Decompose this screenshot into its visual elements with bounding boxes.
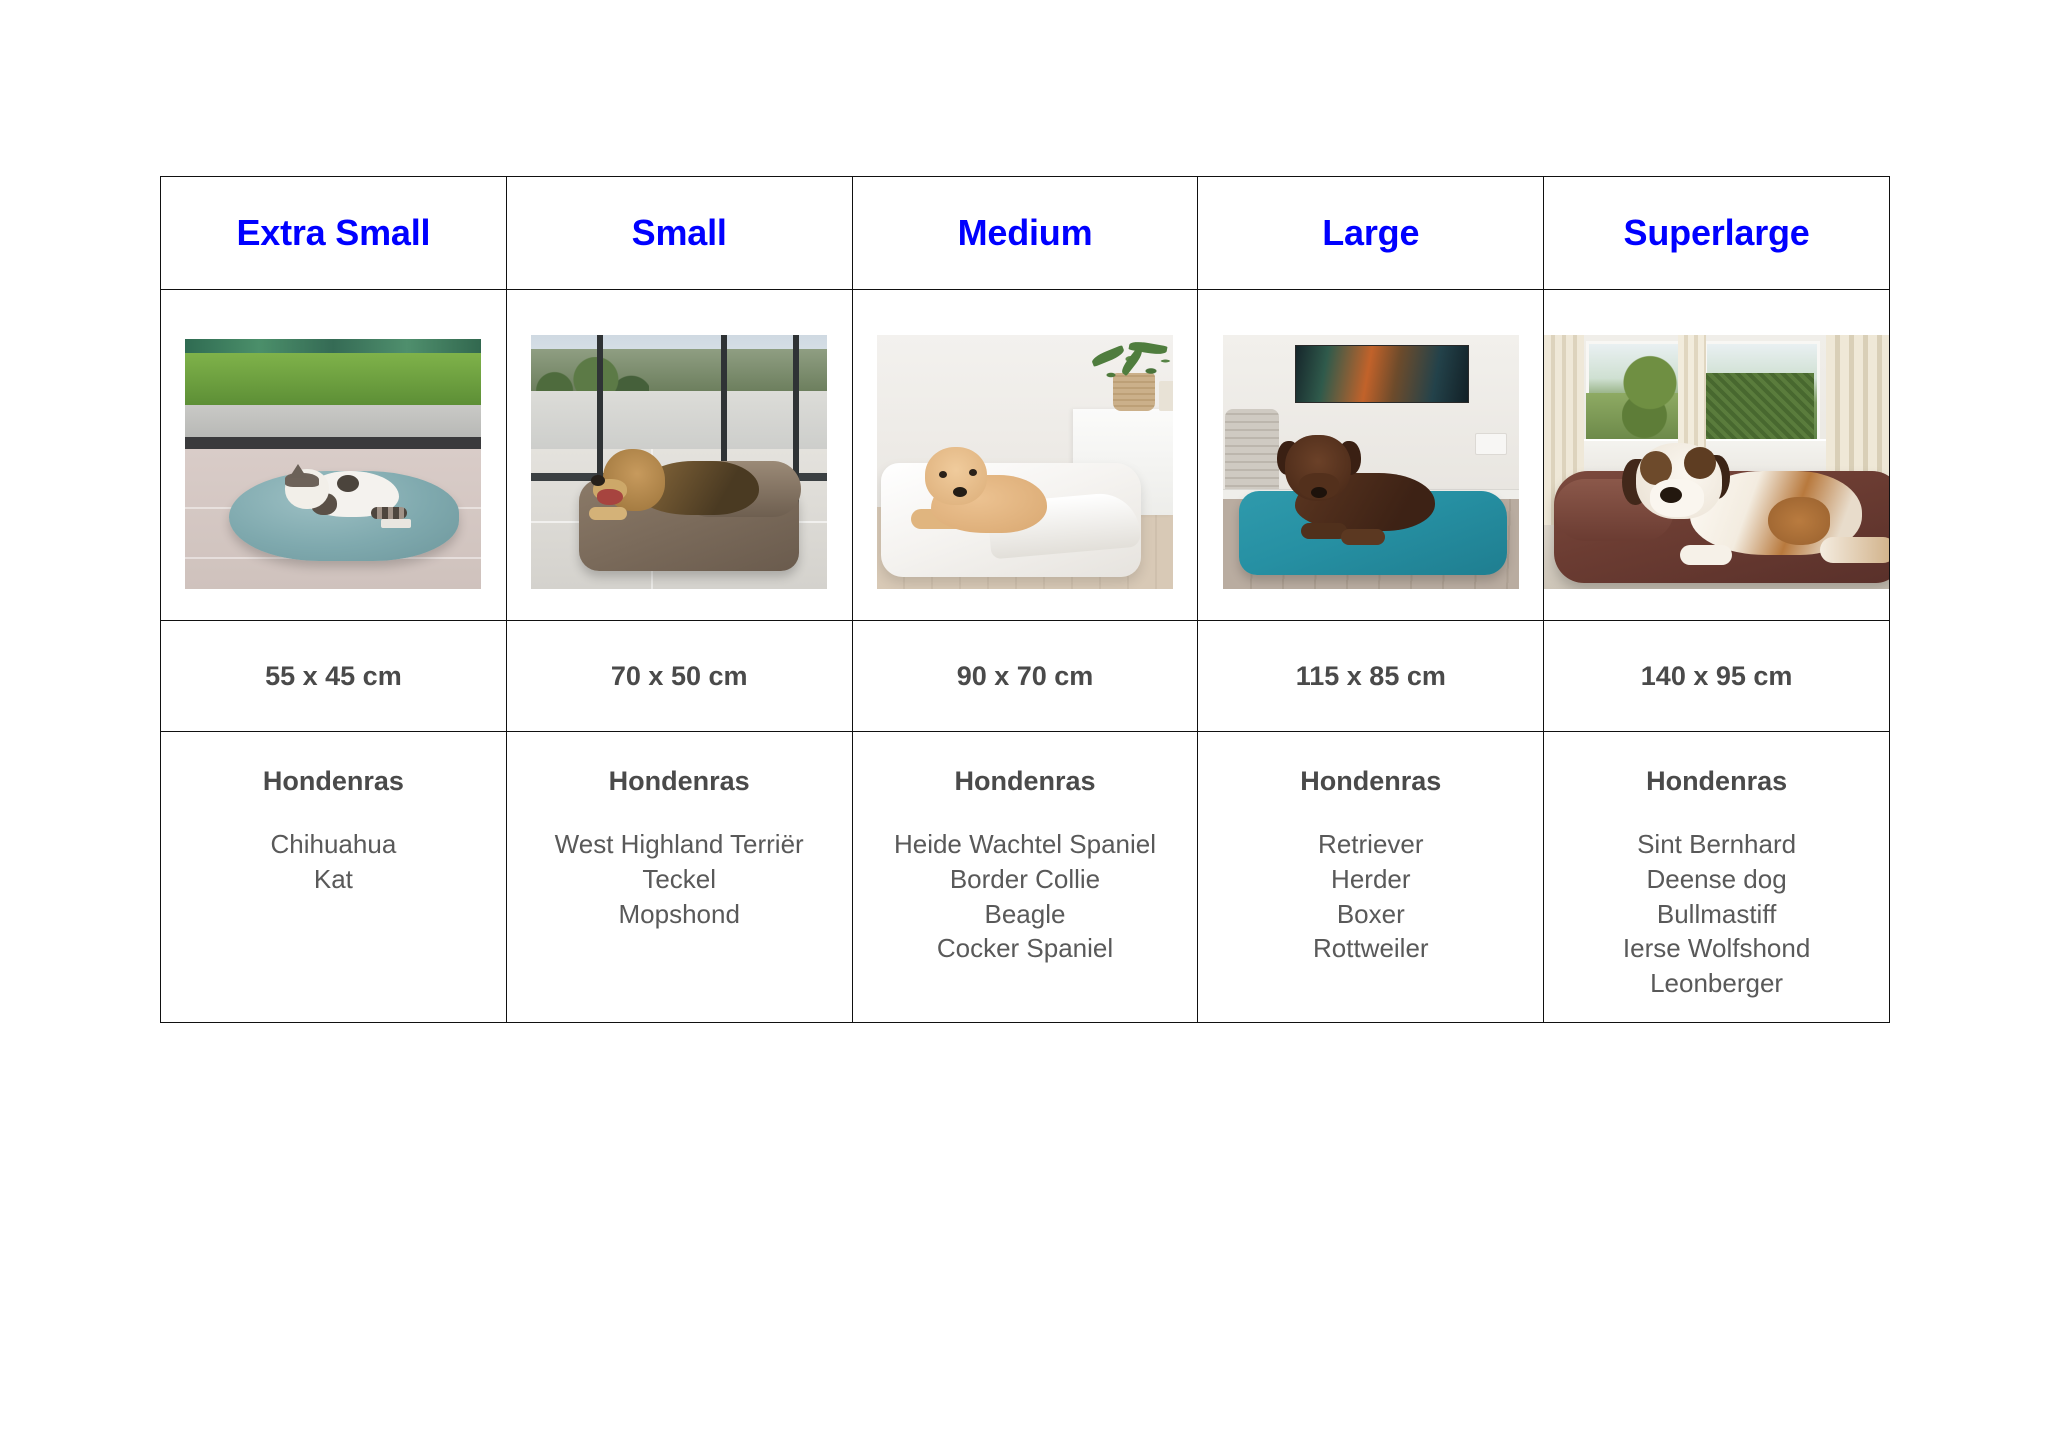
dimensions-large: 115 x 85 cm	[1198, 663, 1543, 690]
dog-paw	[1341, 529, 1385, 545]
breed-item: Sint Bernhard	[1544, 827, 1889, 862]
breed-item: Cocker Spaniel	[853, 931, 1198, 966]
breed-list-extra-small: ChihuahuaKat	[161, 827, 506, 897]
breed-item: Leonberger	[1544, 966, 1889, 1001]
breed-item: Mopshond	[507, 897, 852, 932]
size-name-extra-small: Extra Small	[161, 215, 506, 251]
header-cell-medium: Medium	[852, 177, 1198, 290]
breed-item: Rottweiler	[1198, 931, 1543, 966]
dog-fur-patch	[1768, 497, 1830, 545]
hedge-band	[185, 339, 481, 353]
photo-wrap-medium	[853, 290, 1198, 620]
breed-list-large: RetrieverHerderBoxerRottweiler	[1198, 827, 1543, 966]
shrub-outside	[1622, 345, 1678, 439]
photo-cell-superlarge	[1544, 290, 1890, 621]
size-cell-large: 115 x 85 cm	[1198, 621, 1544, 732]
table-photo-row	[161, 290, 1890, 621]
breed-block-medium: Hondenras Heide Wachtel SpanielBorder Co…	[853, 732, 1198, 966]
breed-block-large: Hondenras RetrieverHerderBoxerRottweiler	[1198, 732, 1543, 966]
breed-list-superlarge: Sint BernhardDeense dogBullmastiffIerse …	[1544, 827, 1889, 1001]
breeds-cell-extra-small: Hondenras ChihuahuaKat	[161, 732, 507, 1023]
size-cell-small: 70 x 50 cm	[506, 621, 852, 732]
header-cell-large: Large	[1198, 177, 1544, 290]
breed-item: Boxer	[1198, 897, 1543, 932]
photo-wrap-extra-small	[161, 290, 506, 620]
dog-paw	[1301, 523, 1347, 539]
dog-bed-size-table: Extra Small Small Medium Large Superlarg…	[160, 176, 1890, 1023]
puppy-eye	[969, 469, 977, 476]
size-name-large: Large	[1198, 215, 1543, 251]
breed-item: Retriever	[1198, 827, 1543, 862]
breed-block-small: Hondenras West Highland TerriërTeckelMop…	[507, 732, 852, 931]
document-page: Extra Small Small Medium Large Superlarg…	[0, 0, 2048, 1448]
breed-heading: Hondenras	[853, 768, 1198, 795]
photo-wrap-superlarge	[1544, 290, 1889, 620]
breed-heading: Hondenras	[507, 768, 852, 795]
dog-paw	[589, 507, 627, 520]
puppy-eye	[939, 471, 947, 478]
dog-open-mouth	[597, 489, 623, 505]
photo-cell-medium	[852, 290, 1198, 621]
dog-tail	[1820, 537, 1889, 563]
breed-item: Ierse Wolfshond	[1544, 931, 1889, 966]
breed-item: Bullmastiff	[1544, 897, 1889, 932]
breed-heading: Hondenras	[161, 768, 506, 795]
size-name-small: Small	[507, 215, 852, 251]
breed-item: Heide Wachtel Spaniel	[853, 827, 1198, 862]
breed-item: Beagle	[853, 897, 1198, 932]
dog-nose	[1311, 487, 1327, 498]
photo-terrier-on-brown-leather-dog-bed	[531, 321, 827, 589]
dimensions-superlarge: 140 x 95 cm	[1544, 663, 1889, 690]
floor-vase	[1225, 409, 1279, 501]
photo-cell-small	[506, 290, 852, 621]
photo-saint-bernard-on-brown-dog-bed	[1544, 321, 1889, 589]
dog-paw	[1680, 545, 1732, 565]
dog-face-mask	[1684, 447, 1716, 479]
header-cell-small: Small	[506, 177, 852, 290]
candle	[1159, 381, 1173, 411]
lawn-band	[185, 353, 481, 405]
terrace-band	[185, 405, 481, 441]
breed-heading: Hondenras	[1198, 768, 1543, 795]
breeds-cell-small: Hondenras West Highland TerriërTeckelMop…	[506, 732, 852, 1023]
breeds-cell-superlarge: Hondenras Sint BernhardDeense dogBullmas…	[1544, 732, 1890, 1023]
wall-socket	[1475, 433, 1507, 455]
size-name-medium: Medium	[853, 215, 1198, 251]
size-cell-medium: 90 x 70 cm	[852, 621, 1198, 732]
breed-item: Teckel	[507, 862, 852, 897]
photo-cell-extra-small	[161, 290, 507, 621]
photo-chocolate-labrador-on-teal-dog-bed	[1223, 321, 1519, 589]
cat-ear	[289, 464, 307, 478]
hedge-outside	[1704, 373, 1814, 439]
table-dimensions-row: 55 x 45 cm 70 x 50 cm 90 x 70 cm 115 x 8…	[161, 621, 1890, 732]
breed-item: Chihuahua	[161, 827, 506, 862]
dimensions-extra-small: 55 x 45 cm	[161, 663, 506, 690]
photo-wrap-large	[1198, 290, 1543, 620]
breed-item: Kat	[161, 862, 506, 897]
wall-artwork	[1295, 345, 1469, 403]
breed-item: West Highland Terriër	[507, 827, 852, 862]
photo-wrap-small	[507, 290, 852, 620]
photo-cat-on-light-blue-dog-bed	[185, 321, 481, 589]
cat-tail	[371, 507, 407, 519]
header-cell-superlarge: Superlarge	[1544, 177, 1890, 290]
breed-heading: Hondenras	[1544, 768, 1889, 795]
breed-item: Herder	[1198, 862, 1543, 897]
header-cell-extra-small: Extra Small	[161, 177, 507, 290]
breed-item: Deense dog	[1544, 862, 1889, 897]
dimensions-medium: 90 x 70 cm	[853, 663, 1198, 690]
breed-list-medium: Heide Wachtel SpanielBorder CollieBeagle…	[853, 827, 1198, 966]
photo-cell-large	[1198, 290, 1544, 621]
breeds-cell-large: Hondenras RetrieverHerderBoxerRottweiler	[1198, 732, 1544, 1023]
table-header-row: Extra Small Small Medium Large Superlarg…	[161, 177, 1890, 290]
photo-poodle-puppy-on-white-dog-bed	[877, 321, 1173, 589]
size-name-superlarge: Superlarge	[1544, 215, 1889, 251]
breed-block-superlarge: Hondenras Sint BernhardDeense dogBullmas…	[1544, 732, 1889, 1001]
terrace-band	[531, 391, 827, 449]
dimensions-small: 70 x 50 cm	[507, 663, 852, 690]
bed-brand-label	[381, 519, 411, 528]
breeds-cell-medium: Hondenras Heide Wachtel SpanielBorder Co…	[852, 732, 1198, 1023]
puppy-nose	[953, 487, 967, 497]
size-cell-extra-small: 55 x 45 cm	[161, 621, 507, 732]
breed-item: Border Collie	[853, 862, 1198, 897]
breed-list-small: West Highland TerriërTeckelMopshond	[507, 827, 852, 931]
table-breeds-row: Hondenras ChihuahuaKat Hondenras West Hi…	[161, 732, 1890, 1023]
window-frame	[185, 437, 481, 449]
breed-block-extra-small: Hondenras ChihuahuaKat	[161, 732, 506, 897]
size-cell-superlarge: 140 x 95 cm	[1544, 621, 1890, 732]
